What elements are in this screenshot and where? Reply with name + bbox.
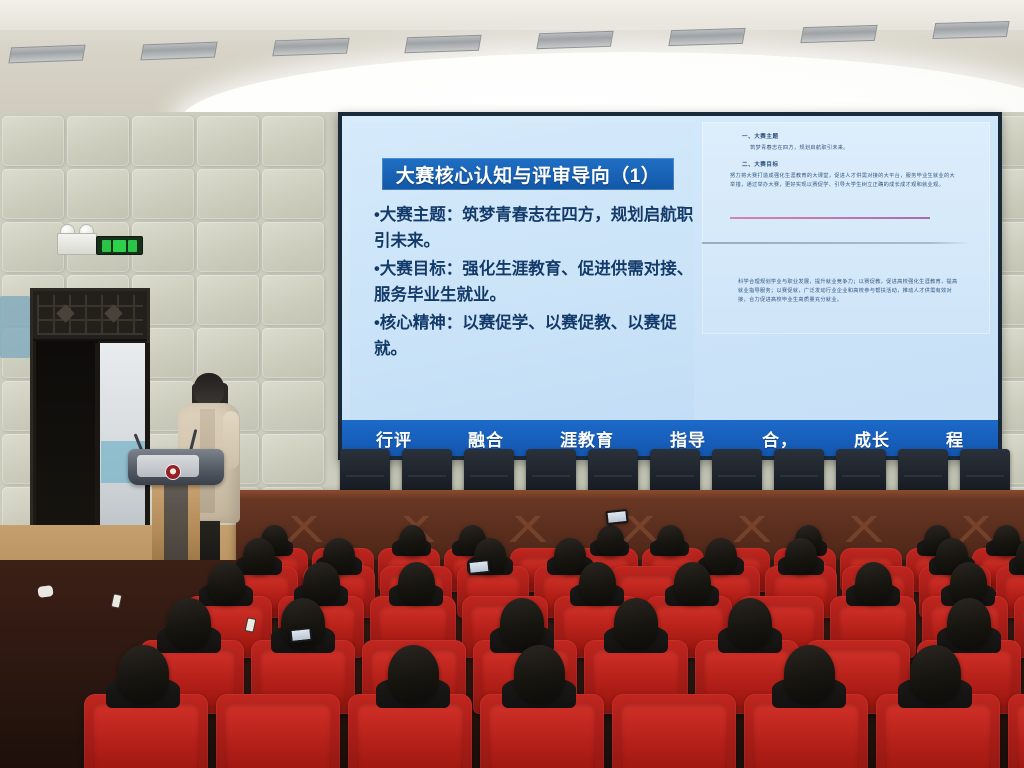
slide-bullet-list: •大赛主题：筑梦青春志在四方，规划启航职引未来。 •大赛目标：强化生涯教育、促进… xyxy=(374,202,696,364)
banner-segment: 成长 xyxy=(854,426,890,451)
acoustic-wall-pad xyxy=(262,381,324,431)
acoustic-wall-pad xyxy=(197,169,259,219)
banner-segment: 涯教育 xyxy=(560,426,614,451)
acoustic-wall-pad xyxy=(2,169,64,219)
audience-member-head xyxy=(243,538,275,574)
audience-member-head xyxy=(554,538,586,574)
dais-chair xyxy=(836,449,886,495)
acoustic-wall-pad xyxy=(132,116,194,166)
audience-phone-camera xyxy=(289,627,312,643)
ceiling-vent xyxy=(8,45,85,64)
ceiling-vent xyxy=(272,38,349,57)
audience-member-head xyxy=(500,598,544,648)
acoustic-wall-pad xyxy=(262,328,324,378)
audience-member-head xyxy=(947,598,991,648)
screenshot-root: 大赛核心认知与评审导向（1） •大赛主题：筑梦青春志在四方，规划启航职引未来。 … xyxy=(0,0,1024,768)
auditorium-seat[interactable] xyxy=(216,694,340,768)
audience-member-head xyxy=(614,598,658,648)
door-transom xyxy=(33,291,147,341)
door-lattice-icon xyxy=(37,295,143,335)
slide-left-pane: 大赛核心认知与评审导向（1） •大赛主题：筑梦青春志在四方，规划启航职引未来。 … xyxy=(350,122,702,422)
lectern-desktop xyxy=(128,449,224,485)
doc-paragraph-1: 筑梦青春志在四方，规划启航职引未来。 xyxy=(750,144,950,153)
audience-member-head xyxy=(705,538,737,574)
slide-bullet: •核心精神：以赛促学、以赛促教、以赛促就。 xyxy=(374,310,696,362)
audience-member-head xyxy=(785,538,817,574)
audience-member-head xyxy=(399,525,426,556)
audience-member-head xyxy=(388,645,439,702)
rostrum-top-edge xyxy=(236,490,1024,499)
dais-chair xyxy=(960,449,1010,495)
banner-segment: 融合 xyxy=(468,426,504,451)
ceiling-vent xyxy=(404,35,481,54)
ceiling xyxy=(0,0,1024,118)
doc-section-divider xyxy=(702,242,970,244)
audience-member-head xyxy=(398,562,435,604)
auditorium-seat[interactable] xyxy=(612,694,736,768)
dais-chair xyxy=(898,449,948,495)
auditorium-seat[interactable] xyxy=(1008,694,1024,768)
presenter-arm-right xyxy=(223,411,239,469)
dais-chair xyxy=(464,449,514,495)
dais-chair xyxy=(402,449,452,495)
acoustic-wall-pad xyxy=(2,116,64,166)
document-card: 一、大赛主题 筑梦青春志在四方，规划启航职引未来。 二、大赛目标 努力将大赛打造… xyxy=(702,122,990,334)
acoustic-wall-pad xyxy=(67,169,129,219)
audience-member-head xyxy=(855,562,892,604)
audience-member-head xyxy=(674,562,711,604)
running-man-icon xyxy=(113,240,126,252)
lectern-front-plate xyxy=(137,455,199,477)
lectern-column xyxy=(152,483,200,567)
acoustic-wall-pad xyxy=(262,169,324,219)
ceiling-vent xyxy=(932,21,1009,39)
exit-glyph-left xyxy=(102,240,111,252)
audience-phone-camera xyxy=(605,509,628,525)
university-emblem xyxy=(165,464,181,480)
slide-title: 大赛核心认知与评审导向（1） xyxy=(382,158,674,190)
acoustic-wall-pad xyxy=(262,116,324,166)
doc-heading-2: 二、大赛目标 xyxy=(742,160,779,168)
dais-chair xyxy=(650,449,700,495)
acoustic-wall-pad xyxy=(197,222,259,272)
projection-screen: 大赛核心认知与评审导向（1） •大赛主题：筑梦青春志在四方，规划启航职引未来。 … xyxy=(338,112,1002,460)
banner-segment: 合， xyxy=(762,426,798,451)
banner-segment: 程 xyxy=(946,426,964,451)
exit-sign xyxy=(96,236,143,255)
banner-segment: 行评 xyxy=(376,426,412,451)
acoustic-wall-pad xyxy=(197,275,259,325)
dais-chair xyxy=(774,449,824,495)
emergency-light xyxy=(57,233,97,255)
audience-member-head xyxy=(657,525,684,556)
audience-member-head xyxy=(208,562,245,604)
audience-member-head xyxy=(597,525,624,556)
audience-member-head xyxy=(784,645,835,702)
doc-heading-1: 一、大赛主题 xyxy=(742,132,779,140)
doc-paragraph-3: 科学合理规划学业与职业发展，提升就业竞争力；以赛促教，促进高校强化生涯教育，提高… xyxy=(738,278,958,305)
slide-bullet: •大赛主题：筑梦青春志在四方，规划启航职引未来。 xyxy=(374,202,696,254)
screen-surface: 大赛核心认知与评审导向（1） •大赛主题：筑梦青春志在四方，规划启航职引未来。 … xyxy=(342,116,998,456)
audience-member-head xyxy=(514,645,565,702)
ceiling-vent xyxy=(536,31,613,49)
banner-segment: 指导 xyxy=(670,426,706,451)
ceiling-vent xyxy=(140,41,217,60)
audience-member-head xyxy=(728,598,772,648)
acoustic-wall-pad xyxy=(197,116,259,166)
dais-chair xyxy=(526,449,576,495)
slide-bullet: •大赛目标：强化生涯教育、促进供需对接、服务毕业生就业。 xyxy=(374,256,696,308)
lectern xyxy=(128,449,224,567)
ceiling-vent xyxy=(800,24,877,42)
acoustic-wall-pad xyxy=(197,328,259,378)
exit-glyph-right xyxy=(128,240,137,252)
dais-chair xyxy=(340,449,390,495)
acoustic-wall-pad xyxy=(262,222,324,272)
doc-paragraph-2: 努力将大赛打造成强化生涯教育的大课堂，促进人才供需对接的大平台，服务毕业生就业的… xyxy=(730,172,958,190)
acoustic-wall-pad xyxy=(67,116,129,166)
rostrum-panel xyxy=(696,516,808,542)
audience-member-head xyxy=(167,598,211,648)
acoustic-wall-pad xyxy=(132,169,194,219)
ceiling-vent xyxy=(668,28,745,46)
audience-member-head xyxy=(579,562,616,604)
audience-phone-camera xyxy=(467,559,490,575)
doc-highlight-underline xyxy=(730,217,930,219)
audience-member-head xyxy=(910,645,961,702)
audience-member-head xyxy=(118,645,169,702)
acoustic-wall-pad xyxy=(262,275,324,325)
slide-right-pane: 一、大赛主题 筑梦青春志在四方，规划启航职引未来。 二、大赛目标 努力将大赛打造… xyxy=(694,118,998,442)
dais-chair xyxy=(712,449,762,495)
wall-blue-strip xyxy=(0,296,30,358)
dais-chair xyxy=(588,449,638,495)
presenter-hair xyxy=(194,373,224,404)
acoustic-wall-pad xyxy=(262,434,324,484)
door-mullion xyxy=(95,343,100,555)
acoustic-wall-pad xyxy=(2,222,64,272)
rostrum-panel xyxy=(808,516,920,542)
